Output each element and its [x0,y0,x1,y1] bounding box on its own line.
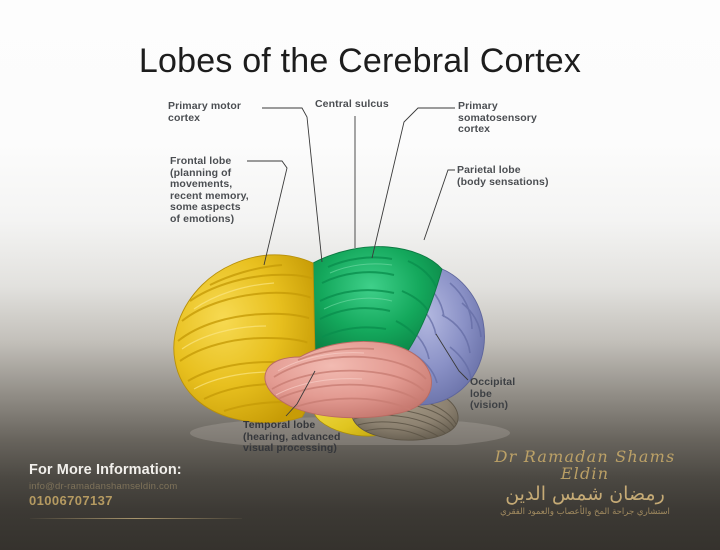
contact-phone[interactable]: 01006707137 [29,493,279,508]
label-primary-somatosensory-cortex: Primary somatosensory cortex [458,101,578,136]
label-parietal-lobe: Parietal lobe (body sensations) [457,165,577,188]
label-primary-motor-cortex: Primary motor cortex [168,101,278,124]
page-title: Lobes of the Cerebral Cortex [0,42,720,81]
slide-canvas: Lobes of the Cerebral Cortex [0,0,720,550]
logo-arabic-subtitle: استشاري جراحة المخ والأعصاب والعمود الفق… [480,507,690,518]
contact-heading: For More Information: [29,462,279,478]
label-occipital-lobe: Occipital lobe (vision) [470,377,560,412]
label-central-sulcus: Central sulcus [315,99,425,111]
label-temporal-lobe: Temporal lobe (hearing, advanced visual … [243,420,393,455]
contact-info-block: For More Information: info@dr-ramadansha… [29,462,279,508]
footer-divider [30,518,242,519]
logo-script-name: Dr Ramadan Shams Eldin [480,448,690,482]
contact-website[interactable]: info@dr-ramadanshamseldin.com [29,481,279,492]
label-frontal-lobe: Frontal lobe (planning of movements, rec… [170,156,280,226]
logo-arabic-name: رمضان شمس الدين [480,483,690,505]
clinic-logo: Dr Ramadan Shams Eldin رمضان شمس الدين ا… [480,448,690,518]
